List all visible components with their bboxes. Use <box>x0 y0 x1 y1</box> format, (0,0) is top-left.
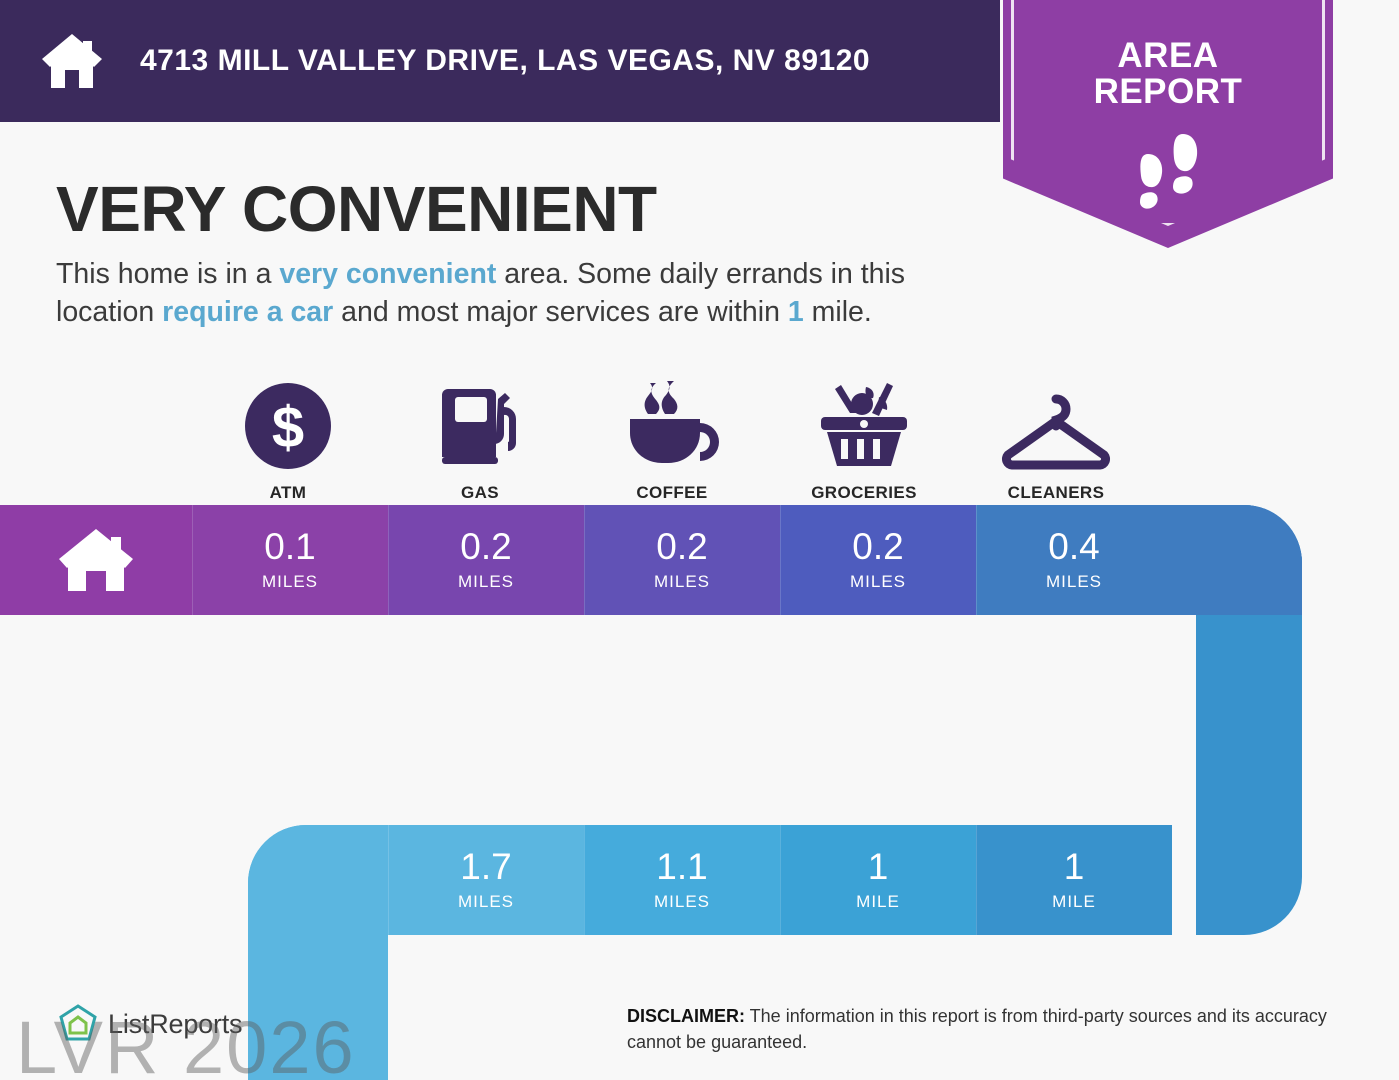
disclaimer-label: DISCLAIMER: <box>627 1006 745 1026</box>
ribbon-home-segment <box>0 505 192 615</box>
segment-divider <box>388 825 389 935</box>
segment-divider <box>780 505 781 615</box>
property-address: 4713 MILL VALLEY DRIVE, LAS VEGAS, NV 89… <box>140 44 870 78</box>
brand-name: ListReports <box>108 1009 242 1040</box>
amenity-label: GAS <box>461 483 499 503</box>
segment-label: 1MILE <box>780 825 976 935</box>
ribbon-row-1: 0.1MILES0.2MILES0.2MILES0.2MILES0.4MILES <box>0 505 1302 615</box>
icon-art <box>622 375 722 471</box>
home-icon <box>40 32 104 90</box>
distance-unit: MILES <box>654 892 710 912</box>
distance-value: 0.2 <box>460 528 511 565</box>
segment-divider <box>388 505 389 615</box>
brand-logo: ListReports <box>56 1002 242 1046</box>
segment-label: 1.7MILES <box>388 825 584 935</box>
segment-label: 0.2MILES <box>780 505 976 615</box>
area-report-page: 4713 MILL VALLEY DRIVE, LAS VEGAS, NV 89… <box>0 0 1399 1080</box>
segment-divider <box>976 825 977 935</box>
ribbon-left-turn <box>248 825 388 1080</box>
footprints-icon <box>1126 128 1210 214</box>
home-icon <box>57 527 135 593</box>
listreports-house-logo <box>56 1002 100 1046</box>
distance-value: 1 <box>868 848 889 885</box>
distance-unit: MILES <box>262 572 318 592</box>
distance-value: 0.2 <box>656 528 707 565</box>
dollar-circle-icon: $ <box>243 381 333 471</box>
summary-text: This home is in a very convenient area. … <box>56 256 996 331</box>
summary-part-3: and most major services are within <box>333 296 788 328</box>
ribbon-segment-movie-theater: 1.1MILES <box>584 825 780 935</box>
icon-art: $ <box>243 375 333 471</box>
segment-divider <box>584 505 585 615</box>
segment-divider <box>192 505 193 615</box>
summary-highlight-distance: 1 <box>788 296 804 328</box>
distance-value: 1.7 <box>460 848 511 885</box>
amenity-gas: GAS <box>384 375 576 503</box>
amenity-coffee: COFFEE <box>576 375 768 503</box>
amenity-label: ATM <box>270 483 307 503</box>
segment-label: 1MILE <box>976 825 1172 935</box>
distance-ribbon: 0.1MILES0.2MILES0.2MILES0.2MILES0.4MILES… <box>0 505 1399 1080</box>
amenity-label: GROCERIES <box>811 483 917 503</box>
segment-divider <box>584 825 585 935</box>
badge-footprints <box>1003 128 1333 219</box>
shopping-basket-icon <box>813 379 915 471</box>
summary-part-4: mile. <box>804 296 872 328</box>
summary-part-1: This home is in a <box>56 258 279 290</box>
distance-unit: MILE <box>1052 892 1096 912</box>
clothes-hanger-icon <box>1000 389 1112 471</box>
gas-pump-icon <box>434 379 526 471</box>
distance-value: 0.1 <box>264 528 315 565</box>
distance-unit: MILES <box>654 572 710 592</box>
ribbon-segment-atm: 0.1MILES <box>192 505 388 615</box>
icon-art <box>1000 375 1112 471</box>
area-report-badge: AREA REPORT <box>1003 0 1333 248</box>
home-icon-wrap <box>0 505 192 615</box>
summary-highlight-convenient: very convenient <box>279 258 496 290</box>
segment-label: 0.1MILES <box>192 505 388 615</box>
ribbon-segment-groceries: 0.2MILES <box>780 505 976 615</box>
amenity-groceries: GROCERIES <box>768 375 960 503</box>
page-title: VERY CONVENIENT <box>56 172 657 246</box>
amenity-label: CLEANERS <box>1008 483 1105 503</box>
disclaimer: DISCLAIMER: The information in this repo… <box>627 1004 1347 1055</box>
summary-highlight-car: require a car <box>162 296 333 328</box>
ribbon-segment-cleaners: 0.4MILES <box>976 505 1172 615</box>
distance-value: 0.4 <box>1048 528 1099 565</box>
distance-value: 0.2 <box>852 528 903 565</box>
ribbon-segment-gas: 0.2MILES <box>388 505 584 615</box>
distance-unit: MILES <box>458 892 514 912</box>
ribbon-segment-pharmacy: 1MILE <box>976 825 1172 935</box>
segment-label: 0.4MILES <box>976 505 1172 615</box>
segment-label: 1.1MILES <box>584 825 780 935</box>
amenity-label: COFFEE <box>636 483 707 503</box>
ribbon-segment-gym: 1.7MILES <box>388 825 584 935</box>
coffee-cup-icon <box>622 379 722 471</box>
distance-value: 1.1 <box>656 848 707 885</box>
svg-text:$: $ <box>272 395 304 460</box>
amenity-atm: $ ATM <box>192 375 384 503</box>
badge-line-2: REPORT <box>1003 74 1333 110</box>
badge-line-1: AREA <box>1003 38 1333 74</box>
segment-label: 0.2MILES <box>388 505 584 615</box>
icon-art <box>813 375 915 471</box>
amenity-cleaners: CLEANERS <box>960 375 1152 503</box>
icon-art <box>434 375 526 471</box>
ribbon-segment-coffee: 0.2MILES <box>584 505 780 615</box>
badge-title: AREA REPORT <box>1003 38 1333 109</box>
amenity-icon-row-1: $ ATM GAS <box>192 375 1152 503</box>
segment-divider <box>780 825 781 935</box>
distance-unit: MILES <box>850 572 906 592</box>
distance-unit: MILE <box>856 892 900 912</box>
distance-unit: MILES <box>1046 572 1102 592</box>
distance-unit: MILES <box>458 572 514 592</box>
ribbon-segment-medical: 1MILE <box>780 825 976 935</box>
segment-label: 0.2MILES <box>584 505 780 615</box>
distance-value: 1 <box>1064 848 1085 885</box>
segment-divider <box>976 505 977 615</box>
ribbon-inner-gap <box>0 615 1196 825</box>
header-bar: 4713 MILL VALLEY DRIVE, LAS VEGAS, NV 89… <box>0 0 1000 122</box>
ribbon-row-2: 1.7MILES1.1MILES1MILE1MILE <box>248 825 1302 935</box>
